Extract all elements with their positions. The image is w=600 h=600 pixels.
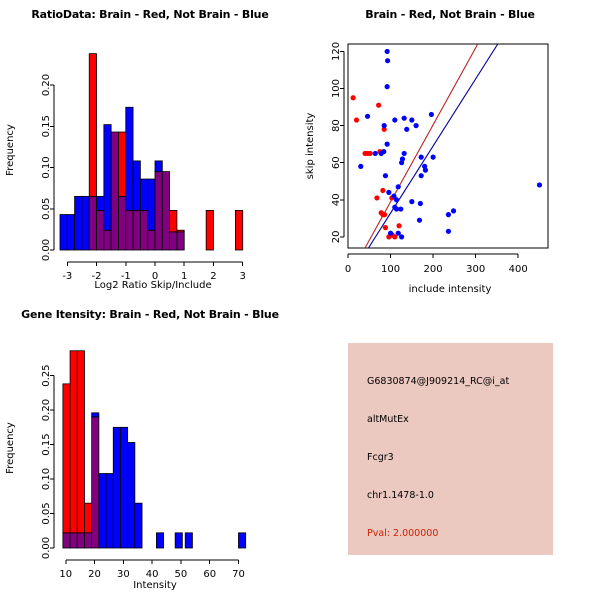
ratio-histogram-x-axis: -3-2-10123 bbox=[62, 262, 246, 282]
ratio-histogram-x-label: Log2 Ratio Skip/Include bbox=[94, 280, 211, 291]
histogram-bar-overlap bbox=[126, 210, 133, 250]
panel-ratio-histogram: RatioData: Brain - Red, Not Brain - Blue… bbox=[0, 0, 300, 300]
histogram-bar-not-brain bbox=[135, 503, 142, 548]
histogram-bar-not-brain bbox=[156, 533, 163, 548]
scatter-point-not-brain bbox=[358, 164, 363, 169]
scatter-x-axis: 0100200300400 bbox=[345, 254, 528, 275]
y-tick-label: 0.10 bbox=[41, 468, 52, 490]
y-tick-label: 0.15 bbox=[41, 433, 52, 455]
scatter-point-not-brain bbox=[537, 182, 542, 187]
scatter-x-label: include intensity bbox=[409, 284, 492, 295]
histogram-bar-overlap bbox=[140, 210, 147, 250]
scatter-point-not-brain bbox=[383, 173, 388, 178]
histogram-bar-not-brain bbox=[126, 107, 133, 210]
histogram-bar-overlap bbox=[84, 533, 91, 548]
panel-gene-intensity-histogram: Gene Itensity: Brain - Red, Not Brain - … bbox=[0, 300, 300, 600]
probe-id-text: G6830874@J909214_RC@i_at bbox=[367, 376, 509, 387]
scatter-point-not-brain bbox=[409, 117, 414, 122]
scatter-point-brain bbox=[383, 225, 388, 230]
y-tick-label: 0.25 bbox=[41, 364, 52, 386]
histogram-bar-not-brain bbox=[82, 196, 89, 250]
histogram-bar-not-brain bbox=[67, 215, 74, 250]
scatter-point-not-brain bbox=[385, 58, 390, 63]
histogram-bar-brain bbox=[84, 503, 91, 533]
scatter-point-not-brain bbox=[419, 173, 424, 178]
scatter-point-brain bbox=[368, 151, 373, 156]
x-tick-label: 20 bbox=[88, 569, 101, 580]
scatter-point-not-brain bbox=[382, 123, 387, 128]
y-tick-label: 0.00 bbox=[41, 537, 52, 559]
pval-text: Pval: 2.000000 bbox=[367, 528, 438, 539]
y-tick-label: 120 bbox=[331, 42, 342, 61]
ratio-histogram-plot: 0.000.050.100.150.20 -3-2-10123 Log2 Rat… bbox=[0, 0, 300, 300]
histogram-bar-brain bbox=[77, 351, 84, 533]
histogram-bar-brain bbox=[170, 210, 177, 231]
x-tick-label: 70 bbox=[232, 569, 245, 580]
histogram-bar-not-brain bbox=[185, 533, 192, 548]
histogram-bar-overlap bbox=[92, 417, 99, 548]
scatter-plot-frame bbox=[348, 44, 548, 248]
y-tick-label: 100 bbox=[331, 79, 342, 98]
ratio-histogram-bars bbox=[60, 54, 243, 250]
scatter-point-not-brain bbox=[394, 197, 399, 202]
scatter-point-not-brain bbox=[402, 151, 407, 156]
scatter-point-not-brain bbox=[418, 201, 423, 206]
scatter-y-label: skip intensity bbox=[305, 113, 316, 180]
scatter-title: Brain - Red, Not Brain - Blue bbox=[300, 8, 600, 21]
histogram-bar-not-brain bbox=[140, 179, 147, 210]
scatter-point-brain bbox=[376, 103, 381, 108]
gene-histogram-title: Gene Itensity: Brain - Red, Not Brain - … bbox=[0, 308, 300, 321]
scatter-point-not-brain bbox=[373, 151, 378, 156]
x-tick-label: 400 bbox=[509, 264, 528, 275]
x-tick-label: 3 bbox=[240, 271, 246, 282]
annotation-info-box: G6830874@J909214_RC@i_at altMutEx Fcgr3 … bbox=[348, 343, 553, 555]
gene-histogram-bars bbox=[63, 351, 246, 548]
y-tick-label: 20 bbox=[331, 231, 342, 244]
y-tick-label: 0.10 bbox=[41, 156, 52, 178]
scatter-point-not-brain bbox=[402, 116, 407, 121]
gene-histogram-y-label: Frequency bbox=[5, 422, 16, 474]
ratio-histogram-y-label: Frequency bbox=[5, 124, 16, 176]
scatter-point-brain bbox=[396, 223, 401, 228]
histogram-bar-brain bbox=[89, 54, 96, 197]
x-tick-label: 300 bbox=[466, 264, 485, 275]
histogram-bar-not-brain bbox=[75, 196, 82, 250]
scatter-point-brain bbox=[351, 95, 356, 100]
histogram-bar-not-brain bbox=[104, 125, 111, 231]
scatter-point-not-brain bbox=[423, 168, 428, 173]
scatter-point-not-brain bbox=[404, 127, 409, 132]
y-tick-label: 0.05 bbox=[41, 198, 52, 220]
x-tick-label: 30 bbox=[117, 569, 130, 580]
scatter-point-not-brain bbox=[388, 231, 393, 236]
y-tick-label: 0.20 bbox=[41, 399, 52, 421]
scatter-point-not-brain bbox=[451, 208, 456, 213]
y-tick-label: 60 bbox=[331, 156, 342, 169]
x-tick-label: 60 bbox=[203, 569, 216, 580]
histogram-bar-not-brain bbox=[99, 474, 106, 548]
y-tick-label: 40 bbox=[331, 193, 342, 206]
histogram-bar-not-brain bbox=[60, 215, 67, 250]
histogram-bar-overlap bbox=[97, 210, 104, 250]
scatter-point-not-brain bbox=[385, 142, 390, 147]
gene-symbol-text: Fcgr3 bbox=[367, 452, 394, 463]
histogram-bar-not-brain bbox=[155, 161, 162, 172]
histogram-bar-not-brain bbox=[148, 179, 155, 230]
histogram-bar-not-brain bbox=[238, 533, 245, 548]
histogram-bar-overlap bbox=[104, 230, 111, 250]
scatter-plot: 20406080100120 0100200300400 include int… bbox=[300, 0, 600, 300]
scatter-point-brain bbox=[374, 195, 379, 200]
scatter-fit-line bbox=[365, 44, 478, 248]
histogram-bar-brain bbox=[63, 384, 70, 533]
scatter-point-not-brain bbox=[392, 117, 397, 122]
scatter-point-not-brain bbox=[365, 114, 370, 119]
panel-annotation-info: G6830874@J909214_RC@i_at altMutEx Fcgr3 … bbox=[300, 300, 600, 600]
histogram-bar-brain bbox=[118, 132, 125, 196]
scatter-fit-lines bbox=[365, 44, 498, 248]
gene-histogram-plot: 0.000.050.100.150.200.25 10203040506070 … bbox=[0, 300, 300, 600]
x-tick-label: 200 bbox=[424, 264, 443, 275]
x-tick-label: 10 bbox=[59, 569, 72, 580]
histogram-bar-overlap bbox=[148, 230, 155, 250]
scatter-point-not-brain bbox=[385, 49, 390, 54]
scatter-point-not-brain bbox=[396, 184, 401, 189]
y-tick-label: 0.15 bbox=[41, 115, 52, 137]
histogram-bar-brain bbox=[70, 351, 77, 533]
histogram-bar-brain bbox=[177, 230, 184, 232]
scatter-point-not-brain bbox=[385, 84, 390, 89]
histogram-bar-not-brain bbox=[133, 161, 140, 211]
histogram-bar-overlap bbox=[63, 533, 70, 548]
scatter-point-not-brain bbox=[379, 151, 384, 156]
histogram-bar-overlap bbox=[89, 196, 96, 250]
histogram-bar-overlap bbox=[77, 533, 84, 548]
scatter-point-not-brain bbox=[419, 155, 424, 160]
histogram-bar-not-brain bbox=[120, 427, 127, 548]
histogram-bar-not-brain bbox=[175, 533, 182, 548]
gene-histogram-y-axis: 0.000.050.100.150.200.25 bbox=[41, 364, 54, 559]
scatter-point-not-brain bbox=[429, 112, 434, 117]
histogram-bar-not-brain bbox=[97, 196, 104, 210]
histogram-bar-overlap bbox=[111, 132, 118, 250]
scatter-point-not-brain bbox=[413, 123, 418, 128]
x-tick-label: 40 bbox=[146, 569, 159, 580]
x-tick-label: 100 bbox=[381, 264, 400, 275]
histogram-bar-overlap bbox=[70, 533, 77, 548]
histogram-bar-overlap bbox=[170, 232, 177, 250]
panel-intensity-scatter: Brain - Red, Not Brain - Blue 2040608010… bbox=[300, 0, 600, 300]
gene-histogram-x-axis: 10203040506070 bbox=[59, 560, 244, 580]
histogram-bar-not-brain bbox=[128, 442, 135, 548]
scatter-point-brain bbox=[380, 188, 385, 193]
histogram-bar-overlap bbox=[155, 172, 162, 250]
scatter-point-not-brain bbox=[446, 229, 451, 234]
histogram-bar-overlap bbox=[177, 232, 184, 250]
x-tick-label: -3 bbox=[62, 271, 72, 282]
y-tick-label: 0.20 bbox=[41, 74, 52, 96]
x-tick-label: 0 bbox=[345, 264, 351, 275]
ratio-histogram-y-axis: 0.000.050.100.150.20 bbox=[41, 74, 54, 261]
y-tick-label: 80 bbox=[331, 119, 342, 132]
scatter-point-not-brain bbox=[431, 155, 436, 160]
histogram-bar-brain bbox=[235, 210, 242, 250]
histogram-bar-overlap bbox=[118, 196, 125, 250]
scatter-point-not-brain bbox=[399, 160, 404, 165]
scatter-data-points bbox=[351, 49, 543, 240]
scatter-point-not-brain bbox=[398, 206, 403, 211]
scatter-y-axis: 20406080100120 bbox=[331, 42, 344, 243]
histogram-bar-not-brain bbox=[92, 413, 99, 417]
locus-text: chr1.1478-1.0 bbox=[367, 490, 434, 501]
scatter-point-not-brain bbox=[409, 199, 414, 204]
y-tick-label: 0.00 bbox=[41, 239, 52, 261]
histogram-bar-brain bbox=[206, 210, 213, 250]
scatter-point-brain bbox=[354, 117, 359, 122]
ratio-histogram-title: RatioData: Brain - Red, Not Brain - Blue bbox=[0, 8, 300, 21]
histogram-bar-not-brain bbox=[106, 474, 113, 548]
scatter-point-not-brain bbox=[399, 234, 404, 239]
scatter-point-not-brain bbox=[386, 190, 391, 195]
histogram-bar-overlap bbox=[162, 172, 169, 250]
gene-histogram-x-label: Intensity bbox=[133, 580, 177, 591]
histogram-bar-overlap bbox=[133, 210, 140, 250]
x-tick-label: 50 bbox=[175, 569, 188, 580]
scatter-point-not-brain bbox=[446, 212, 451, 217]
scatter-point-not-brain bbox=[417, 218, 422, 223]
histogram-bar-not-brain bbox=[113, 427, 120, 548]
scatter-point-brain bbox=[382, 212, 387, 217]
y-tick-label: 0.05 bbox=[41, 502, 52, 524]
event-type-text: altMutEx bbox=[367, 414, 409, 425]
